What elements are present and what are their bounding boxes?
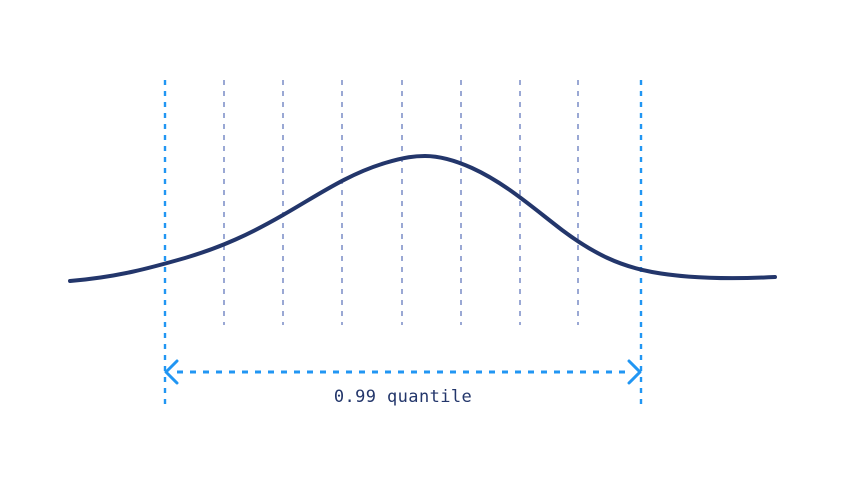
quantile-diagram: 0.99 quantile: [0, 0, 843, 480]
distribution-figure-canvas: 0.99 quantile: [0, 0, 843, 480]
chevron-right-icon: [629, 361, 640, 383]
quantile-span-arrow: [166, 361, 640, 383]
quantile-label: 0.99 quantile: [334, 387, 472, 407]
density-curve: [70, 156, 775, 281]
chevron-left-icon: [166, 361, 177, 383]
